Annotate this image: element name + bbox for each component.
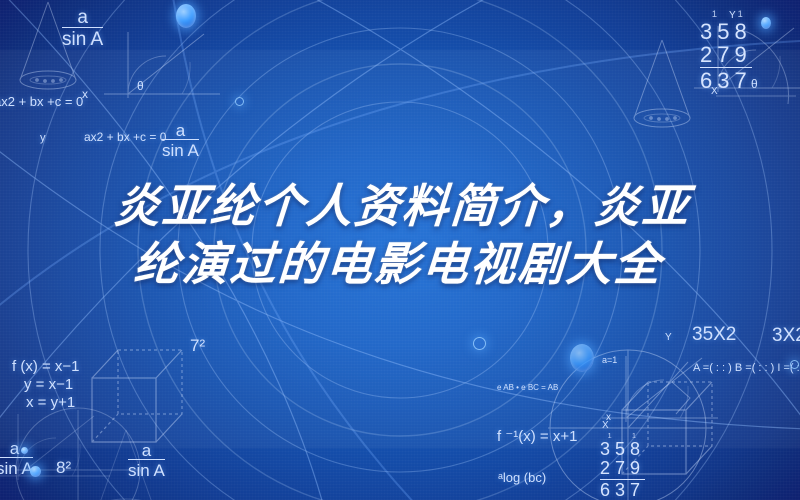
background-line-art	[0, 0, 800, 500]
banner-canvas: asin A ax2 + bx +c = 0 x y θ ax2 + bx +c…	[0, 0, 800, 500]
